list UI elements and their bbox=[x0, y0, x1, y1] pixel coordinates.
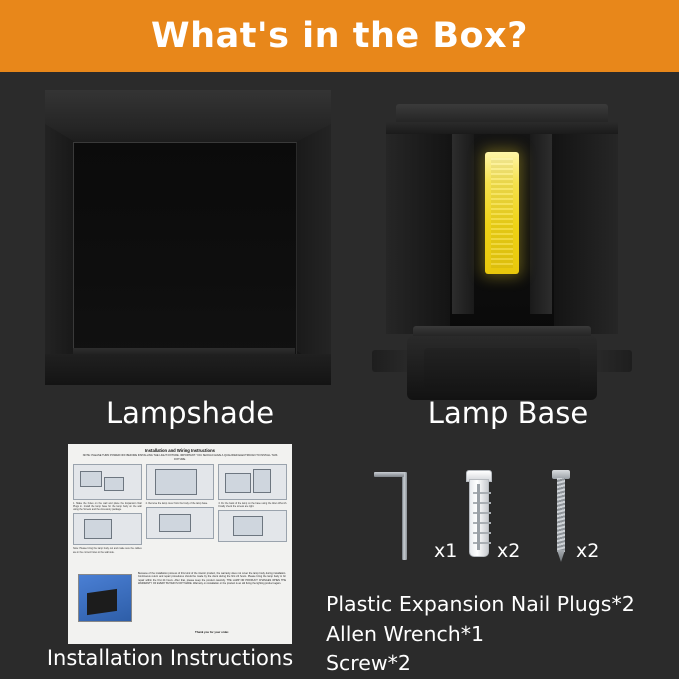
lamp-base-right-shell bbox=[554, 134, 618, 334]
manual-step-1-note: Note: Please bring the lamp body out and… bbox=[73, 547, 142, 553]
expansion-plug-icon bbox=[466, 470, 490, 562]
manual-product-photo-lamp bbox=[87, 589, 117, 615]
hardware-list: Plastic Expansion Nail Plugs*2 Allen Wre… bbox=[326, 590, 666, 679]
lampshade-left-face bbox=[45, 124, 75, 376]
manual-step-1-text: 1. Make the holes on the wall and place … bbox=[73, 502, 142, 511]
expansion-plug-body bbox=[469, 479, 489, 557]
allen-wrench-quantity: x1 bbox=[434, 540, 457, 562]
lamp-base-right-bracket bbox=[592, 350, 632, 372]
manual-step-2-text: 2. Remove the lamp cover from the body o… bbox=[146, 502, 215, 505]
manual-product-photo bbox=[78, 574, 132, 622]
product-stage: Lampshade Lamp Base Installation and Wir… bbox=[0, 72, 679, 679]
hardware-list-item-screw: Screw*2 bbox=[326, 649, 666, 679]
manual-note: NOTE: PLEASE TURN POWER OFF BEFORE INSTA… bbox=[68, 453, 292, 461]
screw-icon bbox=[552, 470, 570, 562]
manual-column-1: 1. Make the holes on the wall and place … bbox=[73, 464, 142, 554]
manual-figure-1b bbox=[73, 513, 142, 545]
manual-columns: 1. Make the holes on the wall and place … bbox=[68, 461, 292, 554]
lamp-base-top-cap bbox=[396, 104, 608, 124]
page-title: What's in the Box? bbox=[151, 16, 528, 56]
lamp-base-left-pillar bbox=[452, 134, 474, 314]
allen-wrench-long-arm bbox=[402, 472, 407, 560]
manual-figure-3 bbox=[218, 464, 287, 500]
lampshade-inner-face bbox=[73, 142, 297, 355]
allen-wrench-short-arm bbox=[374, 472, 404, 477]
lampshade-bottom-face bbox=[45, 354, 331, 385]
manual-sheet-photo: Installation and Wiring Instructions NOT… bbox=[68, 444, 292, 644]
manual-thanks-text: Thank you for your order. bbox=[138, 630, 286, 634]
hardware-list-item-wrench: Allen Wrench*1 bbox=[326, 620, 666, 650]
expansion-plug-quantity: x2 bbox=[497, 540, 520, 562]
lamp-base-mount-recess bbox=[424, 348, 580, 388]
lampshade-label: Lampshade bbox=[40, 396, 340, 430]
manual-warranty-text: Because of the installation process of t… bbox=[138, 572, 286, 586]
lamp-base-label: Lamp Base bbox=[368, 396, 648, 430]
hardware-list-item-plugs: Plastic Expansion Nail Plugs*2 bbox=[326, 590, 666, 620]
manual-step-3-text: 3. Fix the back of the lamp on the base … bbox=[218, 502, 287, 508]
lamp-base-right-pillar bbox=[530, 134, 552, 314]
manual-figure-1 bbox=[73, 464, 142, 500]
screw-quantity: x2 bbox=[576, 540, 599, 562]
manual-figure-3b bbox=[218, 510, 287, 542]
lampshade-top-face bbox=[45, 90, 331, 142]
cob-led-chip bbox=[485, 152, 519, 274]
manual-figure-2b bbox=[146, 507, 215, 539]
manual-figure-2 bbox=[146, 464, 215, 500]
header-banner: What's in the Box? bbox=[0, 0, 679, 72]
lamp-base-product-photo bbox=[366, 104, 642, 394]
lampshade-product-photo bbox=[40, 90, 336, 390]
installation-instructions-label: Installation Instructions bbox=[20, 646, 320, 670]
lampshade-right-face bbox=[296, 124, 331, 376]
manual-column-2: 2. Remove the lamp cover from the body o… bbox=[146, 464, 215, 554]
lamp-base-left-bracket bbox=[372, 350, 412, 372]
screw-shaft bbox=[557, 478, 565, 552]
manual-column-3: 3. Fix the back of the lamp on the base … bbox=[218, 464, 287, 554]
screw-tip bbox=[557, 550, 565, 562]
allen-wrench-icon bbox=[366, 472, 436, 562]
lamp-base-left-shell bbox=[386, 134, 450, 334]
